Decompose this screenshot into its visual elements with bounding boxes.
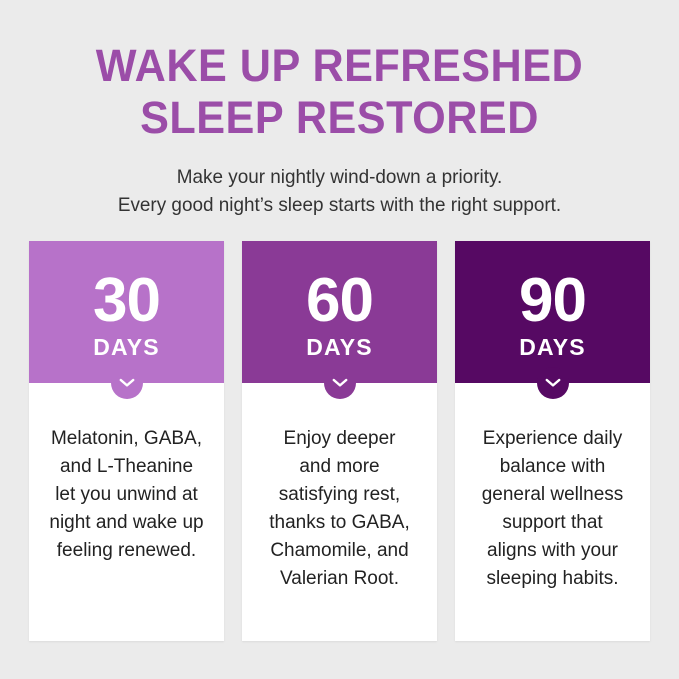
plan-card-description: Enjoy deeper and more satisfying rest, t… xyxy=(242,383,437,641)
plan-cards-row: 30 DAYS Melatonin, GABA, and L-Theanine … xyxy=(29,241,650,641)
description-line: satisfying rest, xyxy=(254,481,425,509)
description-line: night and wake up xyxy=(41,509,212,537)
subtitle-line-2: Every good night’s sleep starts with the… xyxy=(10,191,669,219)
chevron-down-badge[interactable] xyxy=(111,367,143,399)
plan-card-description: Experience daily balance with general we… xyxy=(455,383,650,641)
description-line: and L-Theanine xyxy=(41,453,212,481)
page-title: WAKE UP REFRESHED SLEEP RESTORED xyxy=(14,0,666,144)
description-line: sleeping habits. xyxy=(467,565,638,593)
plan-card-description: Melatonin, GABA, and L-Theanine let you … xyxy=(29,383,224,641)
plan-card-header: 60 DAYS xyxy=(242,241,437,383)
description-line: Chamomile, and xyxy=(254,537,425,565)
plan-duration-unit: DAYS xyxy=(519,335,586,359)
plan-card-90-days[interactable]: 90 DAYS Experience daily balance with ge… xyxy=(455,241,650,641)
chevron-down-badge[interactable] xyxy=(324,367,356,399)
description-line: Enjoy deeper xyxy=(254,425,425,453)
page-subtitle: Make your nightly wind-down a priority. … xyxy=(10,163,669,219)
description-line: feeling renewed. xyxy=(41,537,212,565)
plan-duration-number: 30 xyxy=(93,271,160,331)
chevron-down-icon xyxy=(332,378,348,388)
description-line: Experience daily xyxy=(467,425,638,453)
subtitle-line-1: Make your nightly wind-down a priority. xyxy=(10,163,669,191)
chevron-down-icon xyxy=(545,378,561,388)
plan-card-header: 90 DAYS xyxy=(455,241,650,383)
chevron-down-badge[interactable] xyxy=(537,367,569,399)
plan-duration-number: 90 xyxy=(519,271,586,331)
description-line: and more xyxy=(254,453,425,481)
description-line: aligns with your xyxy=(467,537,638,565)
plan-card-30-days[interactable]: 30 DAYS Melatonin, GABA, and L-Theanine … xyxy=(29,241,224,641)
infographic-poster: WAKE UP REFRESHED SLEEP RESTORED Make yo… xyxy=(0,0,679,679)
chevron-down-icon xyxy=(119,378,135,388)
description-line: support that xyxy=(467,509,638,537)
plan-duration-number: 60 xyxy=(306,271,373,331)
plan-card-header: 30 DAYS xyxy=(29,241,224,383)
headline-line-1: WAKE UP REFRESHED xyxy=(14,40,666,92)
plan-card-60-days[interactable]: 60 DAYS Enjoy deeper and more satisfying… xyxy=(242,241,437,641)
description-line: let you unwind at xyxy=(41,481,212,509)
plan-duration-unit: DAYS xyxy=(306,335,373,359)
headline-line-2: SLEEP RESTORED xyxy=(14,92,666,144)
description-line: thanks to GABA, xyxy=(254,509,425,537)
description-line: balance with xyxy=(467,453,638,481)
description-line: Melatonin, GABA, xyxy=(41,425,212,453)
plan-duration-unit: DAYS xyxy=(93,335,160,359)
description-line: Valerian Root. xyxy=(254,565,425,593)
description-line: general wellness xyxy=(467,481,638,509)
